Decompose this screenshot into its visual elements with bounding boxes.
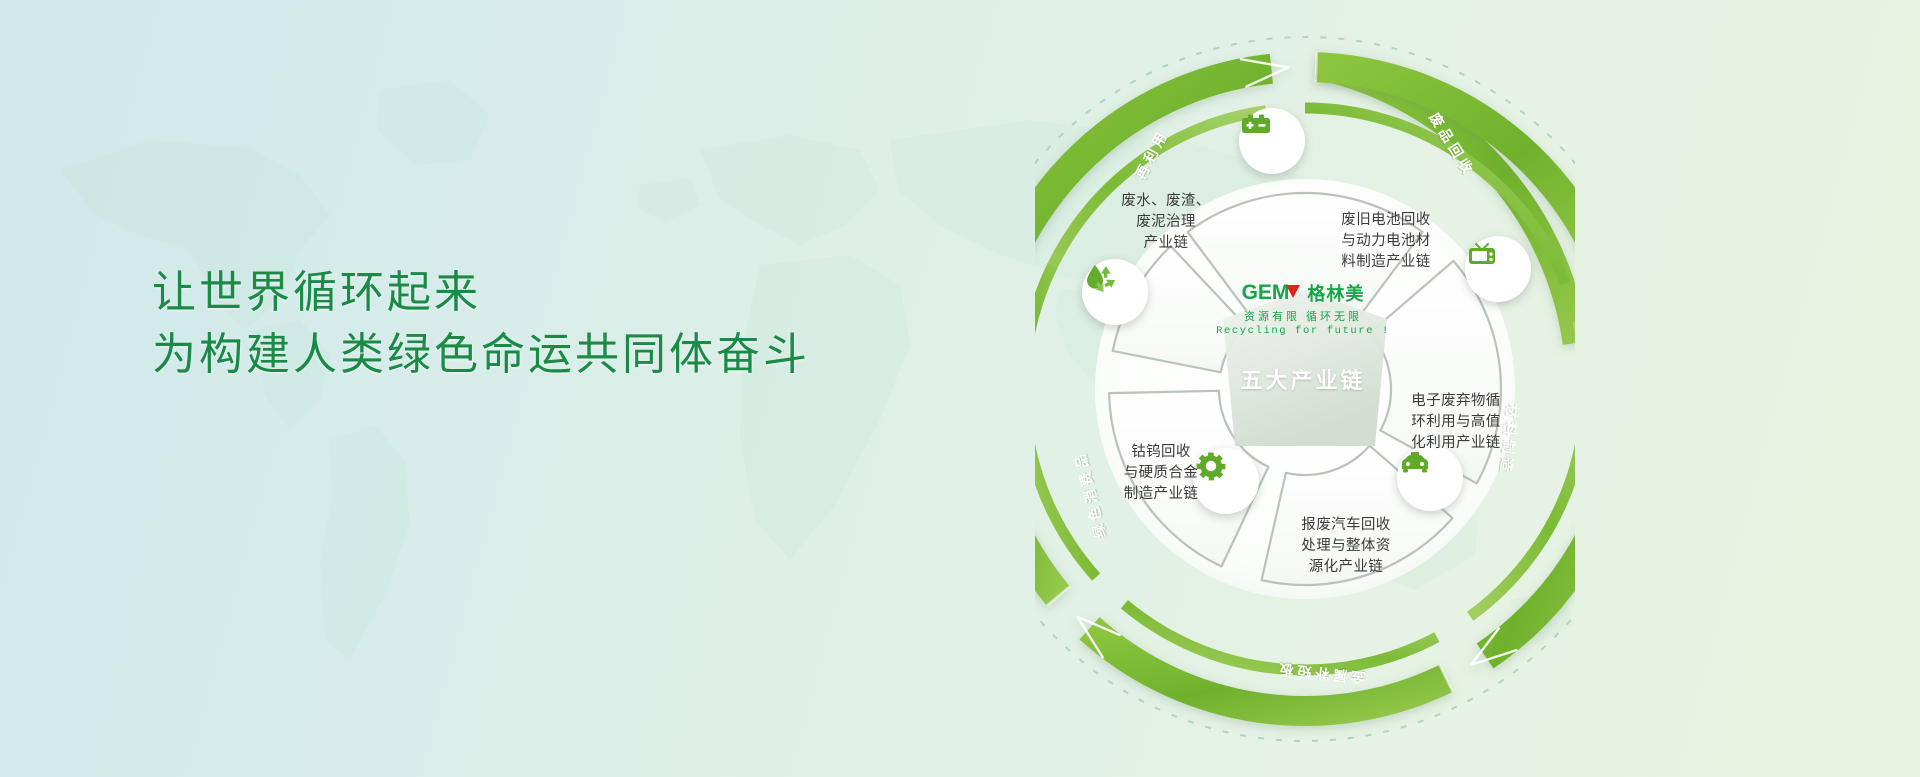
- gem-logo: GEM 格林美: [1178, 280, 1428, 306]
- water-recycle-icon-bubble[interactable]: [1082, 259, 1148, 325]
- segment-label-water: 废水、废渣、 废泥治理 产业链: [1097, 191, 1235, 254]
- television-icon: [1465, 236, 1499, 270]
- segment-label-vehicle: 报废汽车回收 处理与整体资 源化产业链: [1280, 515, 1412, 578]
- logo-slogan-en: Recycling for future !: [1178, 325, 1428, 337]
- battery-icon: [1239, 108, 1273, 142]
- television-icon-bubble[interactable]: [1465, 236, 1531, 302]
- segment-label-cobalt: 钴钨回收 与硬质合金 制造产业链: [1093, 442, 1229, 505]
- gem-wordmark: GEM: [1242, 281, 1290, 305]
- slogan-block: 让世界循环起来 为构建人类绿色命运共同体奋斗: [152, 262, 810, 386]
- water-recycle-icon: [1082, 259, 1120, 297]
- center-logo-block: GEM 格林美 资源有限 循环无限 Recycling for future !…: [1178, 280, 1428, 395]
- slogan-line-1: 让世界循环起来: [152, 262, 810, 324]
- gem-wordmark-cn: 格林美: [1307, 280, 1364, 306]
- battery-icon-bubble[interactable]: [1239, 108, 1305, 174]
- five-industry-chain-diagram: 废旧电池回收 与动力电池材 料制造产业链 电子废弃物循 环利用与高值 化利用产业…: [1035, 8, 1575, 770]
- world-map-background: [0, 0, 1920, 777]
- car-icon-bubble[interactable]: [1397, 445, 1463, 511]
- logo-slogan-cn: 资源有限 循环无限: [1178, 308, 1428, 324]
- segment-label-battery: 废旧电池回收 与动力电池材 料制造产业链: [1320, 210, 1452, 273]
- gem-triangle-icon: [1286, 285, 1300, 298]
- center-title: 五大产业链: [1178, 363, 1428, 395]
- slogan-line-2: 为构建人类绿色命运共同体奋斗: [152, 324, 810, 386]
